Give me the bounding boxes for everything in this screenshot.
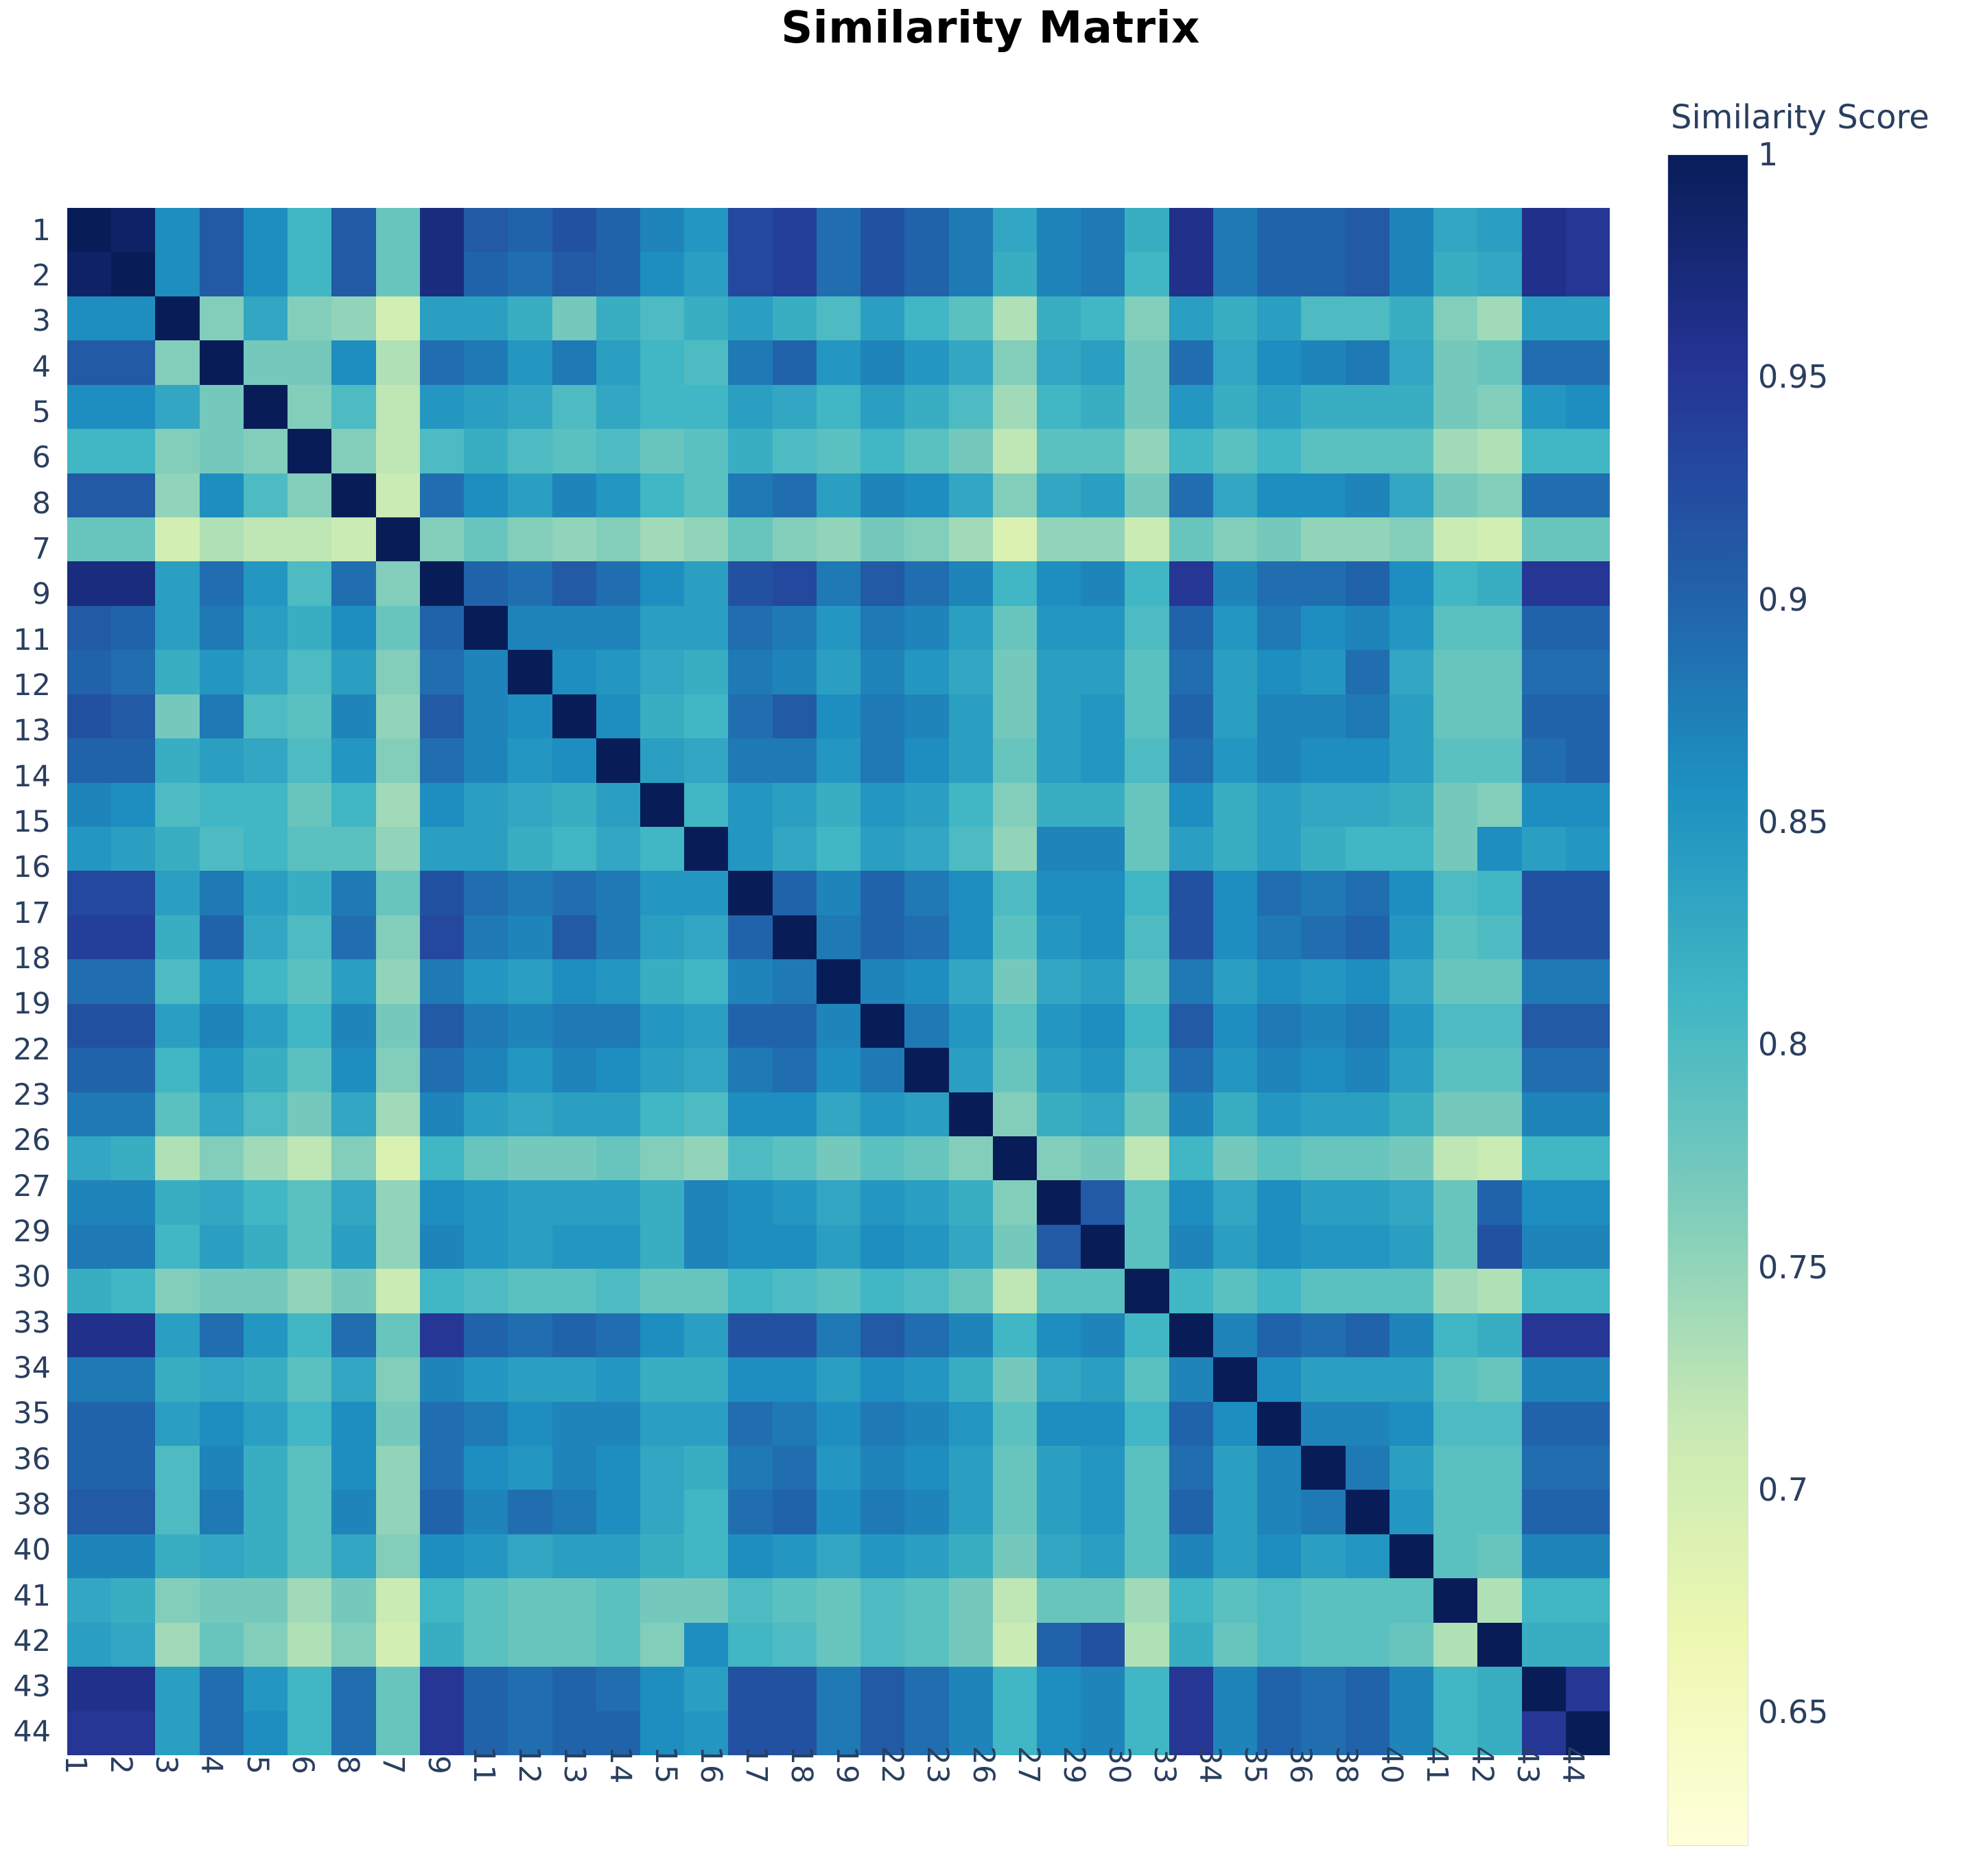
heatmap-cell[interactable] <box>552 1357 596 1401</box>
heatmap-cell[interactable] <box>684 871 728 915</box>
heatmap-cell[interactable] <box>596 1269 640 1313</box>
heatmap-cell[interactable] <box>1301 650 1345 694</box>
heatmap-cell[interactable] <box>508 915 552 959</box>
heatmap-cell[interactable] <box>1037 1136 1081 1180</box>
heatmap-cell[interactable] <box>1346 694 1390 738</box>
heatmap-cell[interactable] <box>596 1446 640 1490</box>
heatmap-cell[interactable] <box>860 429 904 473</box>
heatmap-cell[interactable] <box>288 650 331 694</box>
heatmap-cell[interactable] <box>1169 1446 1213 1490</box>
heatmap-cell[interactable] <box>1433 959 1477 1003</box>
heatmap-cell[interactable] <box>1081 517 1125 561</box>
heatmap-cell[interactable] <box>949 1004 993 1048</box>
heatmap-cell[interactable] <box>244 1225 288 1269</box>
heatmap-cell[interactable] <box>552 1225 596 1269</box>
heatmap-cell[interactable] <box>1257 1269 1301 1313</box>
heatmap-cell[interactable] <box>1257 252 1301 296</box>
heatmap-cell[interactable] <box>640 871 684 915</box>
heatmap-cell[interactable] <box>1037 1534 1081 1578</box>
heatmap-cell[interactable] <box>111 1313 155 1357</box>
heatmap-cell[interactable] <box>904 959 948 1003</box>
heatmap-cell[interactable] <box>640 1667 684 1711</box>
heatmap-cell[interactable] <box>817 1313 860 1357</box>
heatmap-cell[interactable] <box>684 1092 728 1136</box>
heatmap-cell[interactable] <box>508 783 552 827</box>
heatmap-cell[interactable] <box>1125 738 1169 782</box>
heatmap-cell[interactable] <box>331 606 375 650</box>
heatmap-cell[interactable] <box>773 1446 817 1490</box>
heatmap-cell[interactable] <box>1169 473 1213 517</box>
heatmap-cell[interactable] <box>67 1402 111 1446</box>
heatmap-cell[interactable] <box>1081 650 1125 694</box>
heatmap-cell[interactable] <box>773 827 817 871</box>
heatmap-cell[interactable] <box>728 1180 772 1224</box>
heatmap-cell[interactable] <box>1301 1269 1345 1313</box>
heatmap-cell[interactable] <box>420 208 464 252</box>
heatmap-cell[interactable] <box>420 1180 464 1224</box>
heatmap-cell[interactable] <box>464 1269 508 1313</box>
heatmap-cell[interactable] <box>155 783 199 827</box>
heatmap-cell[interactable] <box>817 1180 860 1224</box>
heatmap-cell[interactable] <box>1301 738 1345 782</box>
heatmap-cell[interactable] <box>1037 1225 1081 1269</box>
heatmap-cell[interactable] <box>1522 252 1566 296</box>
heatmap-cell[interactable] <box>1257 650 1301 694</box>
heatmap-cell[interactable] <box>1433 1402 1477 1446</box>
heatmap-cell[interactable] <box>684 1623 728 1667</box>
heatmap-cell[interactable] <box>728 517 772 561</box>
heatmap-cell[interactable] <box>376 473 420 517</box>
heatmap-cell[interactable] <box>1125 1534 1169 1578</box>
heatmap-cell[interactable] <box>508 1446 552 1490</box>
heatmap-cell[interactable] <box>288 738 331 782</box>
heatmap-cell[interactable] <box>728 1446 772 1490</box>
heatmap-cell[interactable] <box>728 606 772 650</box>
heatmap-cell[interactable] <box>1433 871 1477 915</box>
heatmap-cell[interactable] <box>200 1269 244 1313</box>
heatmap-cell[interactable] <box>1213 561 1257 605</box>
heatmap-cell[interactable] <box>1213 1269 1257 1313</box>
heatmap-cell[interactable] <box>773 1048 817 1092</box>
heatmap-cell[interactable] <box>376 915 420 959</box>
heatmap-cell[interactable] <box>1477 1225 1521 1269</box>
heatmap-cell[interactable] <box>860 606 904 650</box>
heatmap-cell[interactable] <box>1390 1578 1433 1622</box>
heatmap-cell[interactable] <box>420 1623 464 1667</box>
heatmap-cell[interactable] <box>288 340 331 384</box>
heatmap-cell[interactable] <box>155 1667 199 1711</box>
heatmap-cell[interactable] <box>1213 1136 1257 1180</box>
heatmap-cell[interactable] <box>1125 1004 1169 1048</box>
heatmap-cell[interactable] <box>67 1490 111 1534</box>
heatmap-cell[interactable] <box>993 650 1037 694</box>
heatmap-cell[interactable] <box>860 959 904 1003</box>
heatmap-cell[interactable] <box>1257 208 1301 252</box>
heatmap-cell[interactable] <box>773 1092 817 1136</box>
heatmap-cell[interactable] <box>508 473 552 517</box>
heatmap-cell[interactable] <box>331 1623 375 1667</box>
heatmap-cell[interactable] <box>596 517 640 561</box>
heatmap-cell[interactable] <box>200 650 244 694</box>
heatmap-cell[interactable] <box>244 208 288 252</box>
heatmap-cell[interactable] <box>244 296 288 340</box>
heatmap-cell[interactable] <box>464 429 508 473</box>
heatmap-cell[interactable] <box>1169 561 1213 605</box>
heatmap-cell[interactable] <box>773 871 817 915</box>
heatmap-cell[interactable] <box>640 959 684 1003</box>
heatmap-cell[interactable] <box>1522 1623 1566 1667</box>
heatmap-cell[interactable] <box>596 1136 640 1180</box>
heatmap-cell[interactable] <box>376 1578 420 1622</box>
heatmap-cell[interactable] <box>288 1136 331 1180</box>
heatmap-cell[interactable] <box>1390 915 1433 959</box>
heatmap-cell[interactable] <box>1522 871 1566 915</box>
heatmap-cell[interactable] <box>67 1446 111 1490</box>
heatmap-cell[interactable] <box>1213 1180 1257 1224</box>
heatmap-cell[interactable] <box>1169 1578 1213 1622</box>
heatmap-cell[interactable] <box>817 606 860 650</box>
heatmap-cell[interactable] <box>331 340 375 384</box>
heatmap-cell[interactable] <box>331 1092 375 1136</box>
heatmap-cell[interactable] <box>1125 385 1169 429</box>
heatmap-cell[interactable] <box>1257 1534 1301 1578</box>
heatmap-cell[interactable] <box>155 296 199 340</box>
heatmap-cell[interactable] <box>376 1313 420 1357</box>
heatmap-cell[interactable] <box>1125 1578 1169 1622</box>
heatmap-cell[interactable] <box>949 1048 993 1092</box>
heatmap-cell[interactable] <box>1522 1534 1566 1578</box>
heatmap-cell[interactable] <box>817 871 860 915</box>
heatmap-cell[interactable] <box>684 827 728 871</box>
heatmap-cell[interactable] <box>1433 650 1477 694</box>
heatmap-cell[interactable] <box>904 871 948 915</box>
heatmap-cell[interactable] <box>1433 915 1477 959</box>
heatmap-cell[interactable] <box>728 915 772 959</box>
heatmap-cell[interactable] <box>67 650 111 694</box>
heatmap-cell[interactable] <box>552 959 596 1003</box>
heatmap-cell[interactable] <box>1522 517 1566 561</box>
heatmap-cell[interactable] <box>1081 252 1125 296</box>
heatmap-cell[interactable] <box>200 871 244 915</box>
heatmap-cell[interactable] <box>155 827 199 871</box>
heatmap-cell[interactable] <box>155 606 199 650</box>
heatmap-cell[interactable] <box>596 1490 640 1534</box>
heatmap-cell[interactable] <box>904 1180 948 1224</box>
heatmap-cell[interactable] <box>949 1225 993 1269</box>
heatmap-cell[interactable] <box>1037 650 1081 694</box>
heatmap-cell[interactable] <box>1566 1092 1610 1136</box>
heatmap-cell[interactable] <box>1037 1490 1081 1534</box>
heatmap-cell[interactable] <box>331 650 375 694</box>
heatmap-cell[interactable] <box>244 1711 288 1755</box>
heatmap-cell[interactable] <box>67 1225 111 1269</box>
heatmap-cell[interactable] <box>1257 1004 1301 1048</box>
heatmap-cell[interactable] <box>1390 650 1433 694</box>
heatmap-cell[interactable] <box>1522 1269 1566 1313</box>
heatmap-cell[interactable] <box>640 473 684 517</box>
heatmap-cell[interactable] <box>1522 1092 1566 1136</box>
heatmap-cell[interactable] <box>1433 517 1477 561</box>
heatmap-cell[interactable] <box>376 1180 420 1224</box>
heatmap-cell[interactable] <box>596 1225 640 1269</box>
heatmap-cell[interactable] <box>376 1269 420 1313</box>
heatmap-cell[interactable] <box>1522 959 1566 1003</box>
heatmap-cell[interactable] <box>993 959 1037 1003</box>
heatmap-cell[interactable] <box>1390 473 1433 517</box>
heatmap-cell[interactable] <box>1213 1578 1257 1622</box>
heatmap-cell[interactable] <box>1081 783 1125 827</box>
heatmap-cell[interactable] <box>1257 1623 1301 1667</box>
heatmap-cell[interactable] <box>1125 1136 1169 1180</box>
heatmap-cell[interactable] <box>420 959 464 1003</box>
heatmap-cell[interactable] <box>331 1004 375 1048</box>
heatmap-cell[interactable] <box>200 783 244 827</box>
heatmap-cell[interactable] <box>1169 650 1213 694</box>
heatmap-cell[interactable] <box>1346 1136 1390 1180</box>
heatmap-cell[interactable] <box>640 738 684 782</box>
heatmap-cell[interactable] <box>464 1578 508 1622</box>
heatmap-cell[interactable] <box>508 738 552 782</box>
heatmap-cell[interactable] <box>155 252 199 296</box>
heatmap-cell[interactable] <box>949 208 993 252</box>
heatmap-cell[interactable] <box>949 1623 993 1667</box>
heatmap-cell[interactable] <box>773 1357 817 1401</box>
heatmap-cell[interactable] <box>1037 517 1081 561</box>
heatmap-cell[interactable] <box>1125 915 1169 959</box>
heatmap-cell[interactable] <box>817 473 860 517</box>
heatmap-cell[interactable] <box>1433 1313 1477 1357</box>
heatmap-cell[interactable] <box>111 827 155 871</box>
heatmap-cell[interactable] <box>552 296 596 340</box>
heatmap-cell[interactable] <box>111 1357 155 1401</box>
heatmap-cell[interactable] <box>1390 1180 1433 1224</box>
heatmap-cell[interactable] <box>904 1225 948 1269</box>
heatmap-cell[interactable] <box>155 1402 199 1446</box>
heatmap-cell[interactable] <box>904 1667 948 1711</box>
heatmap-cell[interactable] <box>1037 1578 1081 1622</box>
heatmap-cell[interactable] <box>684 1269 728 1313</box>
heatmap-cell[interactable] <box>1301 1092 1345 1136</box>
heatmap-cell[interactable] <box>155 1357 199 1401</box>
heatmap-cell[interactable] <box>376 1667 420 1711</box>
heatmap-cell[interactable] <box>331 1446 375 1490</box>
heatmap-cell[interactable] <box>596 252 640 296</box>
heatmap-cell[interactable] <box>1081 1534 1125 1578</box>
heatmap-cell[interactable] <box>1301 1357 1345 1401</box>
heatmap-cell[interactable] <box>1346 252 1390 296</box>
heatmap-cell[interactable] <box>860 1313 904 1357</box>
heatmap-cell[interactable] <box>1346 871 1390 915</box>
heatmap-cell[interactable] <box>376 606 420 650</box>
heatmap-cell[interactable] <box>1257 296 1301 340</box>
heatmap-cell[interactable] <box>728 473 772 517</box>
heatmap-cell[interactable] <box>1301 1048 1345 1092</box>
heatmap-cell[interactable] <box>1081 1225 1125 1269</box>
heatmap-cell[interactable] <box>1433 252 1477 296</box>
heatmap-cell[interactable] <box>331 1048 375 1092</box>
heatmap-cell[interactable] <box>993 1004 1037 1048</box>
heatmap-cell[interactable] <box>817 1092 860 1136</box>
heatmap-cell[interactable] <box>1169 429 1213 473</box>
heatmap-cell[interactable] <box>817 1402 860 1446</box>
heatmap-cell[interactable] <box>288 1180 331 1224</box>
heatmap-cell[interactable] <box>904 429 948 473</box>
heatmap-cell[interactable] <box>1346 1623 1390 1667</box>
heatmap-cell[interactable] <box>464 959 508 1003</box>
heatmap-cell[interactable] <box>244 738 288 782</box>
heatmap-cell[interactable] <box>376 1490 420 1534</box>
heatmap-cell[interactable] <box>464 1623 508 1667</box>
heatmap-cell[interactable] <box>1522 1578 1566 1622</box>
heatmap-cell[interactable] <box>1390 738 1433 782</box>
heatmap-cell[interactable] <box>817 385 860 429</box>
heatmap-cell[interactable] <box>288 1667 331 1711</box>
heatmap-cell[interactable] <box>420 871 464 915</box>
heatmap-cell[interactable] <box>244 1357 288 1401</box>
heatmap-cell[interactable] <box>1169 1004 1213 1048</box>
heatmap-cell[interactable] <box>1301 1313 1345 1357</box>
heatmap-cell[interactable] <box>1390 561 1433 605</box>
heatmap-cell[interactable] <box>773 1623 817 1667</box>
heatmap-cell[interactable] <box>111 1004 155 1048</box>
heatmap-cell[interactable] <box>1213 1092 1257 1136</box>
heatmap-cell[interactable] <box>1390 827 1433 871</box>
heatmap-cell[interactable] <box>67 871 111 915</box>
heatmap-cell[interactable] <box>1037 1402 1081 1446</box>
heatmap-cell[interactable] <box>1213 429 1257 473</box>
heatmap-cell[interactable] <box>420 429 464 473</box>
heatmap-cell[interactable] <box>904 827 948 871</box>
heatmap-cell[interactable] <box>640 1578 684 1622</box>
heatmap-cell[interactable] <box>1037 1446 1081 1490</box>
heatmap-cell[interactable] <box>1213 1490 1257 1534</box>
heatmap-cell[interactable] <box>200 1357 244 1401</box>
heatmap-cell[interactable] <box>1257 1180 1301 1224</box>
heatmap-cell[interactable] <box>1125 1490 1169 1534</box>
heatmap-cell[interactable] <box>1169 606 1213 650</box>
heatmap-cell[interactable] <box>552 517 596 561</box>
heatmap-cell[interactable] <box>376 517 420 561</box>
heatmap-cell[interactable] <box>1081 1446 1125 1490</box>
heatmap-cell[interactable] <box>904 606 948 650</box>
heatmap-cell[interactable] <box>817 1048 860 1092</box>
heatmap-cell[interactable] <box>111 1269 155 1313</box>
heatmap-cell[interactable] <box>244 1136 288 1180</box>
heatmap-cell[interactable] <box>200 561 244 605</box>
heatmap-cell[interactable] <box>817 1269 860 1313</box>
heatmap-cell[interactable] <box>773 694 817 738</box>
heatmap-cell[interactable] <box>155 473 199 517</box>
heatmap-cell[interactable] <box>640 1313 684 1357</box>
heatmap-cell[interactable] <box>1037 1269 1081 1313</box>
heatmap-cell[interactable] <box>993 694 1037 738</box>
heatmap-cell[interactable] <box>640 1269 684 1313</box>
heatmap-cell[interactable] <box>684 1667 728 1711</box>
heatmap-cell[interactable] <box>1566 783 1610 827</box>
heatmap-cell[interactable] <box>773 1269 817 1313</box>
heatmap-cell[interactable] <box>904 1269 948 1313</box>
heatmap-cell[interactable] <box>1390 959 1433 1003</box>
heatmap-cell[interactable] <box>508 1357 552 1401</box>
heatmap-cell[interactable] <box>1125 1357 1169 1401</box>
heatmap-cell[interactable] <box>684 1048 728 1092</box>
heatmap-cell[interactable] <box>596 429 640 473</box>
heatmap-cell[interactable] <box>464 1136 508 1180</box>
heatmap-cell[interactable] <box>1390 208 1433 252</box>
heatmap-cell[interactable] <box>1522 1667 1566 1711</box>
heatmap-cell[interactable] <box>67 252 111 296</box>
heatmap-cell[interactable] <box>1390 1269 1433 1313</box>
heatmap-cell[interactable] <box>1346 1534 1390 1578</box>
heatmap-cell[interactable] <box>949 1092 993 1136</box>
heatmap-cell[interactable] <box>640 1225 684 1269</box>
heatmap-cell[interactable] <box>1125 1092 1169 1136</box>
heatmap-cell[interactable] <box>860 1269 904 1313</box>
heatmap-cell[interactable] <box>420 385 464 429</box>
heatmap-cell[interactable] <box>728 252 772 296</box>
heatmap-cell[interactable] <box>1566 1313 1610 1357</box>
heatmap-cell[interactable] <box>1566 252 1610 296</box>
heatmap-cell[interactable] <box>288 1402 331 1446</box>
heatmap-cell[interactable] <box>1346 1667 1390 1711</box>
heatmap-cell[interactable] <box>640 827 684 871</box>
heatmap-cell[interactable] <box>949 606 993 650</box>
heatmap-cell[interactable] <box>1477 1357 1521 1401</box>
heatmap-cell[interactable] <box>1346 385 1390 429</box>
heatmap-cell[interactable] <box>244 252 288 296</box>
heatmap-cell[interactable] <box>684 694 728 738</box>
heatmap-cell[interactable] <box>773 606 817 650</box>
heatmap-cell[interactable] <box>1566 1402 1610 1446</box>
heatmap-cell[interactable] <box>200 517 244 561</box>
heatmap-cell[interactable] <box>1213 694 1257 738</box>
heatmap-cell[interactable] <box>904 1136 948 1180</box>
heatmap-cell[interactable] <box>111 915 155 959</box>
heatmap-cell[interactable] <box>376 1004 420 1048</box>
heatmap-cell[interactable] <box>1037 473 1081 517</box>
heatmap-cell[interactable] <box>1433 1446 1477 1490</box>
heatmap-cell[interactable] <box>949 783 993 827</box>
heatmap-cell[interactable] <box>773 517 817 561</box>
heatmap-cell[interactable] <box>1566 1578 1610 1622</box>
heatmap-cell[interactable] <box>288 783 331 827</box>
heatmap-cell[interactable] <box>817 208 860 252</box>
heatmap-cell[interactable] <box>1169 871 1213 915</box>
heatmap-cell[interactable] <box>1169 1048 1213 1092</box>
heatmap-cell[interactable] <box>464 606 508 650</box>
heatmap-cell[interactable] <box>376 252 420 296</box>
heatmap-cell[interactable] <box>860 208 904 252</box>
heatmap-cell[interactable] <box>1522 561 1566 605</box>
heatmap-cell[interactable] <box>1477 208 1521 252</box>
heatmap-cell[interactable] <box>1433 1623 1477 1667</box>
heatmap-cell[interactable] <box>244 1578 288 1622</box>
heatmap-cell[interactable] <box>552 1490 596 1534</box>
heatmap-cell[interactable] <box>596 296 640 340</box>
heatmap-cell[interactable] <box>1257 561 1301 605</box>
heatmap-cell[interactable] <box>1301 429 1345 473</box>
heatmap-cell[interactable] <box>1522 1490 1566 1534</box>
heatmap-cell[interactable] <box>464 650 508 694</box>
heatmap-cell[interactable] <box>1346 1004 1390 1048</box>
heatmap-cell[interactable] <box>1125 1048 1169 1092</box>
heatmap-cell[interactable] <box>244 650 288 694</box>
heatmap-cell[interactable] <box>728 208 772 252</box>
heatmap-cell[interactable] <box>1257 1490 1301 1534</box>
heatmap-cell[interactable] <box>1477 1578 1521 1622</box>
heatmap-cell[interactable] <box>684 783 728 827</box>
heatmap-cell[interactable] <box>1301 1446 1345 1490</box>
